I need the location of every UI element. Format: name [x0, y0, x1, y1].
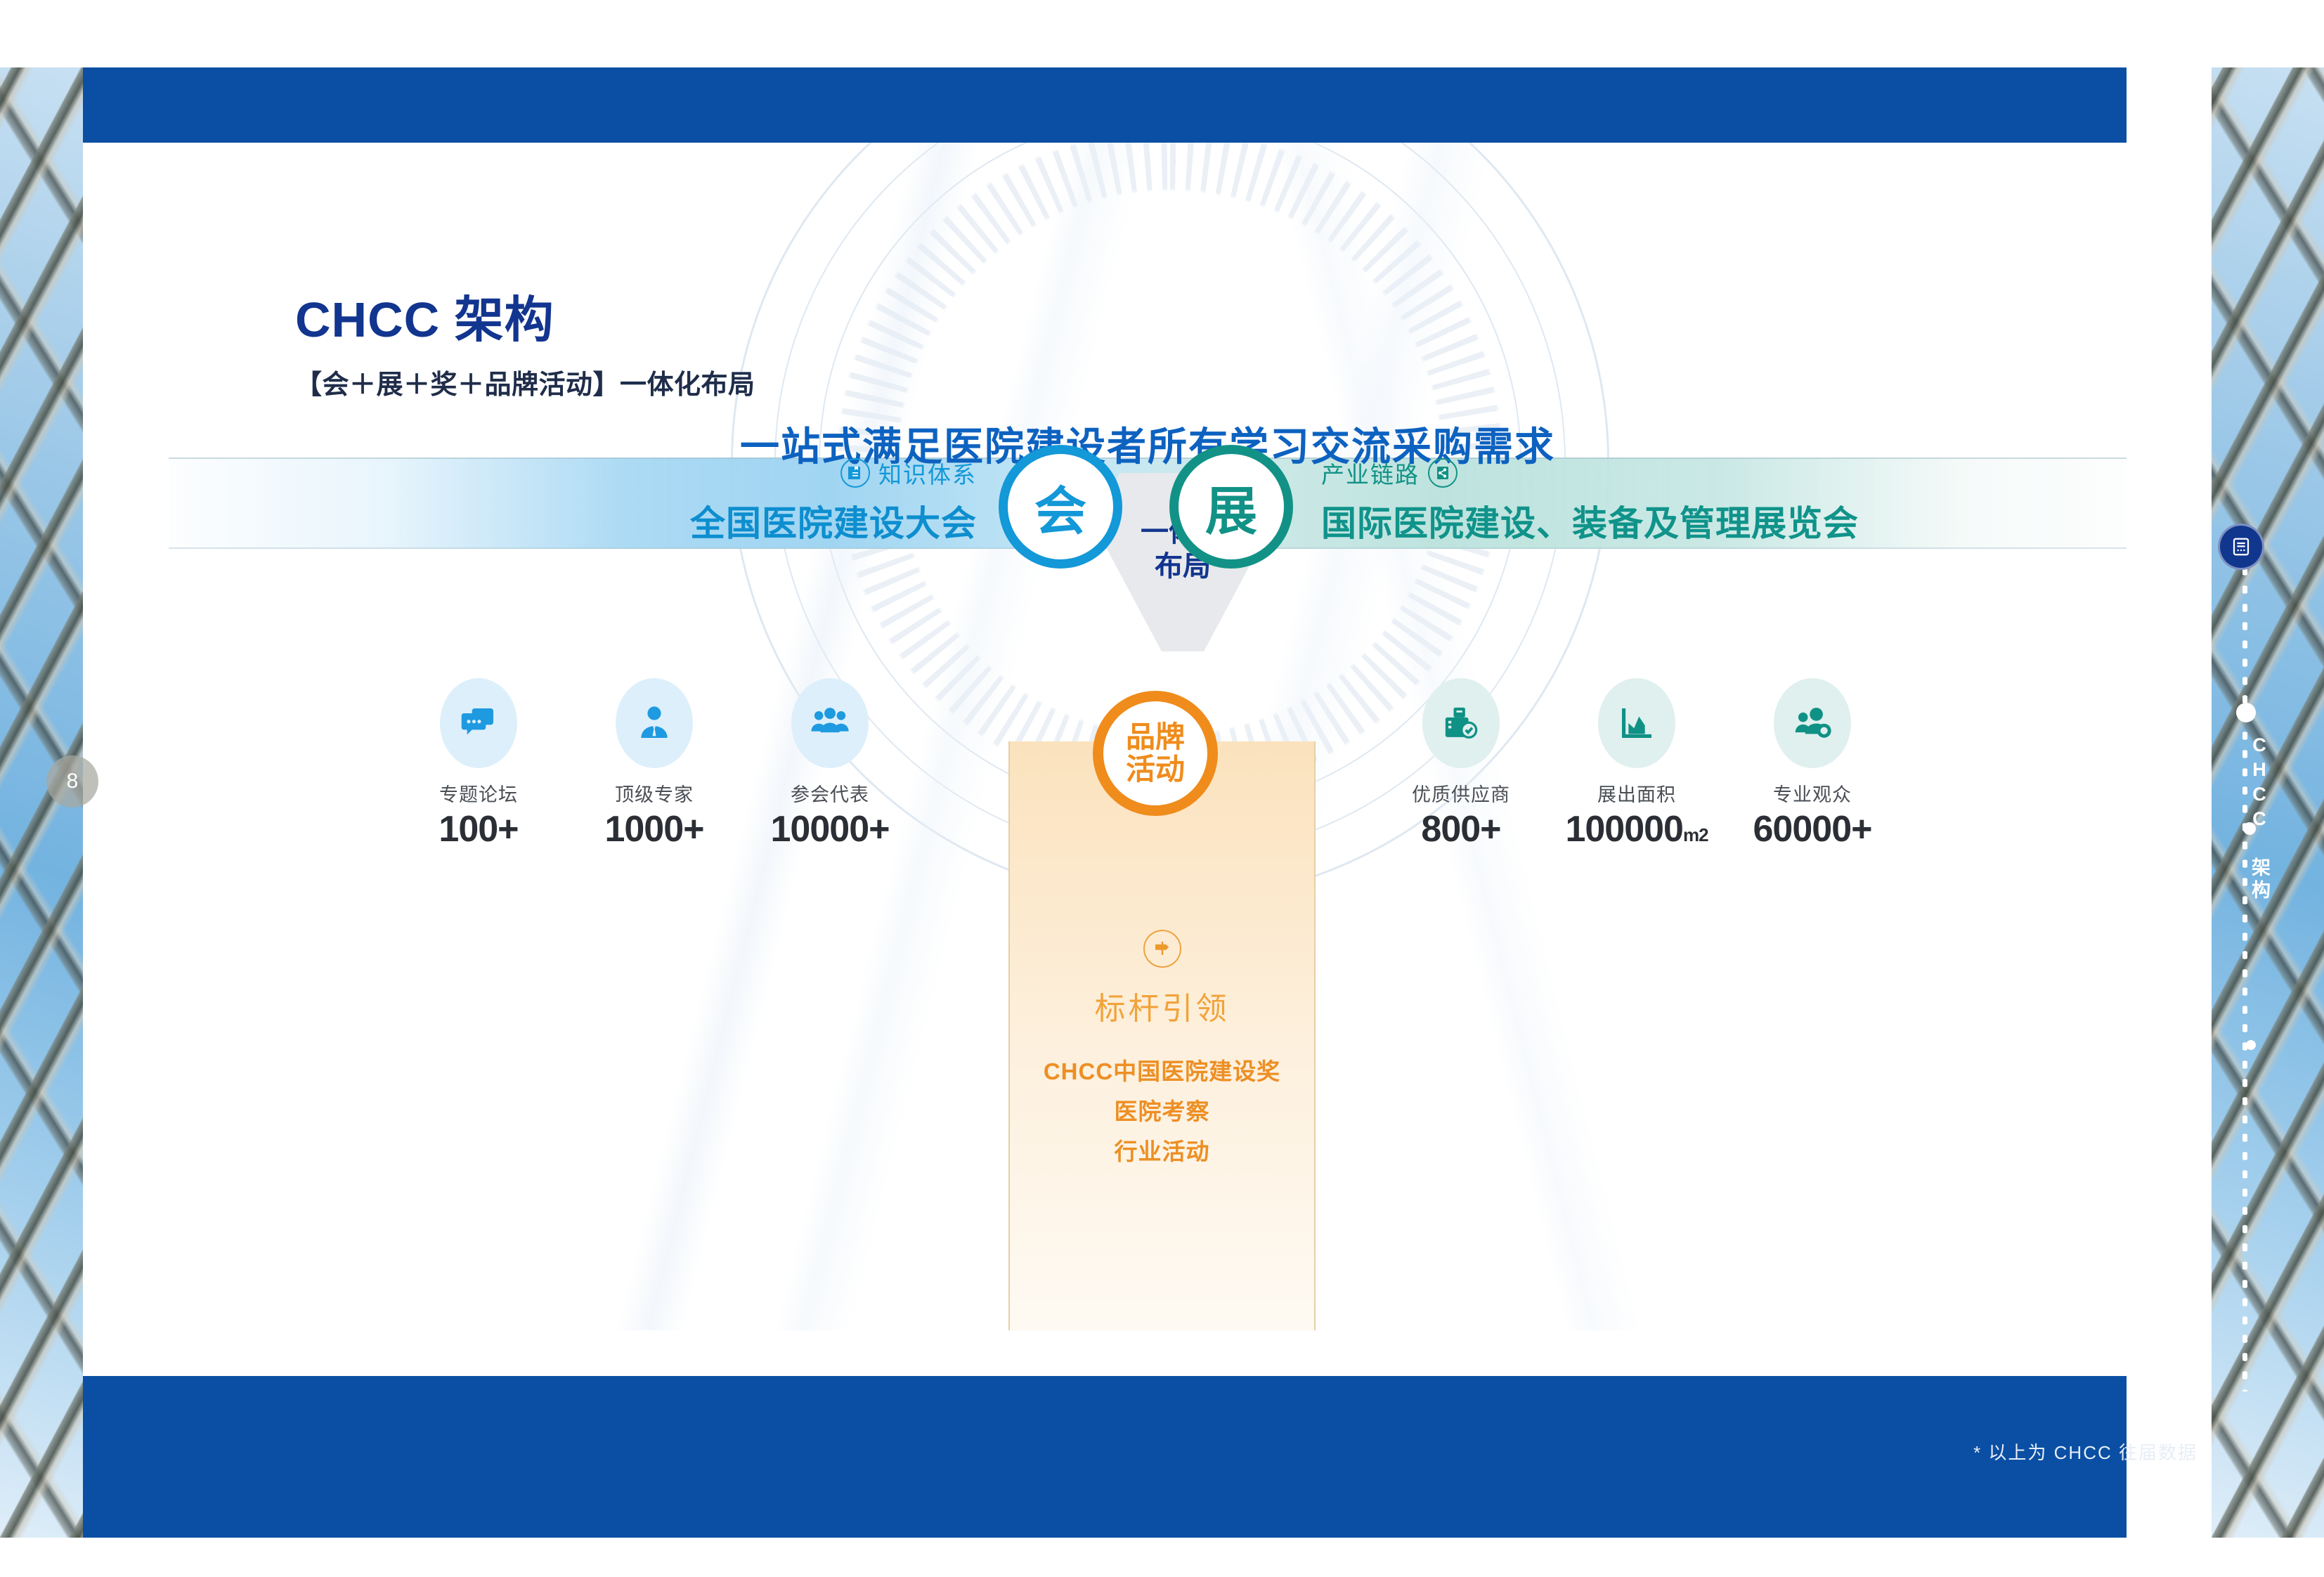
expert-person-icon: [616, 678, 693, 768]
page-number-badge: 8: [46, 755, 98, 807]
stat-caption: 专题论坛: [391, 779, 566, 807]
stat-caption: 顶级专家: [566, 779, 742, 807]
stat-value: 10000+: [742, 808, 918, 850]
rail-section-label: CHCC 架构: [2246, 734, 2273, 902]
stat-caption: 参会代表: [742, 779, 918, 807]
share-icon: [1428, 458, 1458, 488]
stat-area: 展出面积 100000m2: [1549, 678, 1725, 850]
top-white-gutter: [0, 0, 2324, 67]
page-title: CHCC 架构: [295, 294, 755, 347]
stat-caption: 展出面积: [1549, 779, 1725, 807]
group-people-icon: [791, 678, 869, 768]
stat-caption: 专业观众: [1725, 779, 1900, 807]
rail-dot-large: [2236, 703, 2256, 722]
exhibition-circle-char: 展: [1205, 469, 1257, 545]
conference-labels: 知识体系 全国医院建设大会: [169, 456, 977, 546]
stat-value: 800+: [1373, 808, 1549, 850]
stat-caption: 优质供应商: [1373, 779, 1549, 807]
stat-value: 100+: [391, 808, 566, 850]
conference-name: 全国医院建设大会: [169, 495, 977, 546]
bottom-blue-bar: [83, 1376, 2127, 1538]
brand-item-1: CHCC中国医院建设奖: [1044, 1052, 1280, 1092]
stat-delegates: 参会代表 10000+: [742, 678, 918, 850]
stat-experts: 顶级专家 1000+: [566, 678, 742, 850]
stat-value: 60000+: [1725, 808, 1900, 850]
brand-activity-circle: 品牌 活动: [1093, 691, 1218, 816]
exhibition-circle: 展: [1169, 445, 1293, 569]
top-blue-bar: [83, 67, 2127, 143]
book-icon: [840, 458, 870, 488]
area-chart-icon: [1598, 678, 1675, 768]
brand-circle-line-1: 品牌: [1126, 721, 1185, 753]
title-block: CHCC 架构 【会＋展＋奖＋品牌活动】一体化布局: [295, 294, 755, 401]
brand-circle-line-2: 活动: [1126, 753, 1185, 786]
content-card: CHCC 架构 【会＋展＋奖＋品牌活动】一体化布局 一站式满足医院建设者所有学习…: [169, 143, 2127, 1330]
conference-tag-row: 知识体系: [169, 456, 977, 490]
brand-panel-title: 标杆引领: [1095, 983, 1230, 1028]
conference-tag-label: 知识体系: [878, 456, 977, 490]
rail-dot-small: [2246, 1040, 2256, 1050]
conference-circle: 会: [999, 445, 1122, 569]
stat-forums: 专题论坛 100+: [391, 678, 566, 850]
brand-activity-panel: 标杆引领 CHCC中国医院建设奖 医院考察 行业活动: [1008, 741, 1316, 1330]
verified-supplier-icon: [1422, 678, 1500, 768]
visitor-badge-icon: [1774, 678, 1851, 768]
rail-document-icon: [2218, 524, 2264, 570]
chat-bubbles-icon: [440, 678, 517, 768]
stat-visitors: 专业观众 60000+: [1725, 678, 1900, 850]
stat-value-area: 100000m2: [1549, 808, 1725, 850]
exhibition-tag-row: 产业链路: [1321, 456, 2127, 490]
stat-value: 100000: [1565, 809, 1683, 850]
stat-suppliers: 优质供应商 800+: [1373, 678, 1549, 850]
conference-circle-char: 会: [1034, 469, 1086, 545]
rail-dotted-line: [2242, 562, 2247, 1391]
page-subtitle: 【会＋展＋奖＋品牌活动】一体化布局: [295, 363, 755, 401]
brand-item-2: 医院考察: [1115, 1092, 1210, 1132]
exhibition-labels: 产业链路 国际医院建设、装备及管理展览会: [1321, 456, 2127, 546]
slide-canvas: CHCC 架构 【会＋展＋奖＋品牌活动】一体化布局 一站式满足医院建设者所有学习…: [0, 0, 2324, 1577]
stat-value: 1000+: [566, 808, 742, 850]
exhibition-name: 国际医院建设、装备及管理展览会: [1321, 495, 2127, 546]
brand-item-3: 行业活动: [1115, 1132, 1210, 1172]
footnote: * 以上为 CHCC 往届数据: [1973, 1439, 2198, 1465]
bottom-white-gutter: [0, 1538, 2324, 1577]
stat-unit: m2: [1683, 824, 1708, 845]
signpost-icon: [1143, 930, 1181, 968]
exhibition-tag-label: 产业链路: [1321, 456, 1420, 490]
